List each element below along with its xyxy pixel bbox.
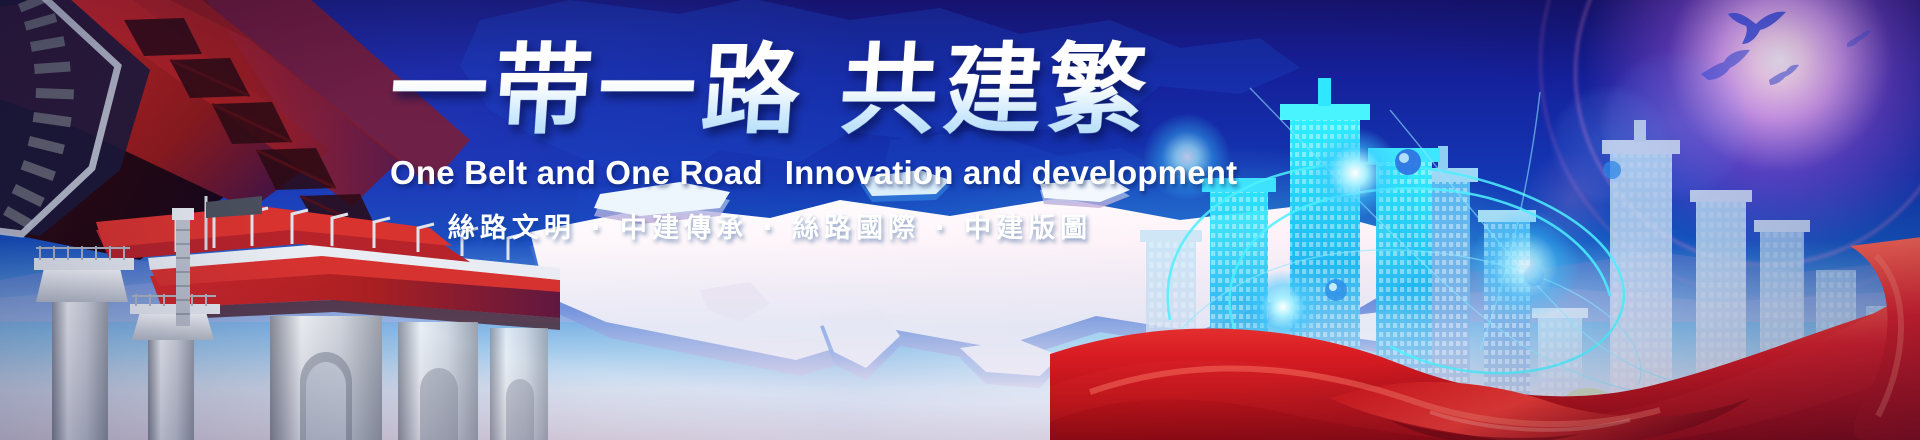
subtitle-chinese: 絲路文明 · 中建傳承 · 絲路國際 · 中建版圖 xyxy=(390,206,1150,245)
bridge-pier-1 xyxy=(34,246,134,440)
headline-part-2: 共建繁荣 xyxy=(836,33,1260,148)
subtitle-english: One Belt and One RoadInnovation and deve… xyxy=(390,154,1150,192)
bridge-arch-piers xyxy=(270,316,548,440)
subtitle-en-part-2: Innovation and development xyxy=(785,154,1238,191)
dove-icon-4 xyxy=(1846,30,1872,48)
red-silk-ribbon xyxy=(1050,236,1920,440)
subtitle-en-part-1: One Belt and One Road xyxy=(390,154,763,191)
headline-part-1: 一带一路 xyxy=(386,33,810,148)
orbit-node-glow-1 xyxy=(1310,128,1400,218)
dove-icon-1 xyxy=(1726,8,1788,46)
belt-and-road-banner: 一带一路共建繁荣 One Belt and One RoadInnovation… xyxy=(0,0,1920,440)
bridge-pier-2 xyxy=(130,294,220,440)
headline: 一带一路共建繁荣 xyxy=(386,38,1153,144)
banner-text-block: 一带一路共建繁荣 One Belt and One RoadInnovation… xyxy=(390,38,1150,245)
